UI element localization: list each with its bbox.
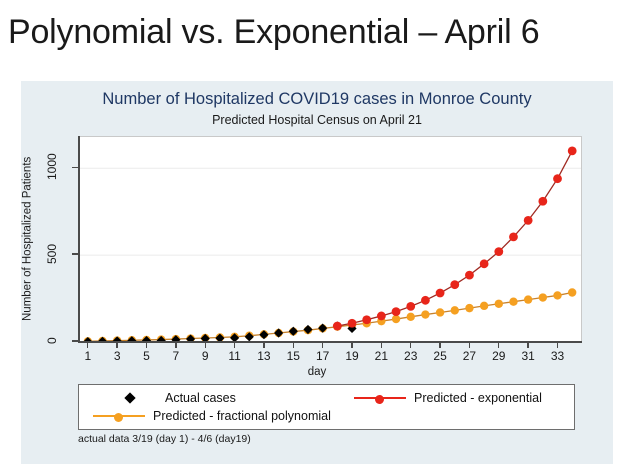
x-axis-line (78, 341, 582, 343)
chart-subtitle: Predicted Hospital Census on April 21 (21, 113, 613, 127)
x-tick-label: 27 (458, 349, 480, 363)
x-tick-label: 31 (517, 349, 539, 363)
plot-area (79, 136, 582, 342)
x-tick-label: 33 (547, 349, 569, 363)
x-tick-mark (469, 342, 470, 348)
x-tick-mark (116, 342, 117, 348)
x-tick-label: 23 (400, 349, 422, 363)
x-tick-mark (263, 342, 264, 348)
y-tick-mark (72, 340, 79, 341)
x-tick-mark (557, 342, 558, 348)
x-tick-label: 17 (312, 349, 334, 363)
x-tick-mark (351, 342, 352, 348)
x-tick-mark (293, 342, 294, 348)
legend-label-polynomial: Predicted - fractional polynomial (153, 409, 331, 423)
x-tick-mark (87, 342, 88, 348)
x-tick-label: 7 (165, 349, 187, 363)
x-tick-label: 11 (224, 349, 246, 363)
x-tick-label: 3 (106, 349, 128, 363)
chart-footnote: actual data 3/19 (day 1) - 4/6 (day19) (78, 433, 251, 445)
plot-svg (79, 137, 581, 342)
x-tick-mark (146, 342, 147, 348)
legend-item-polynomial: Predicted - fractional polynomial (93, 409, 331, 423)
x-tick-label: 29 (488, 349, 510, 363)
x-tick-label: 15 (282, 349, 304, 363)
x-tick-mark (205, 342, 206, 348)
x-axis-title: day (21, 366, 613, 378)
y-tick-mark (72, 253, 79, 254)
slide-title: Polynomial vs. Exponential – April 6 (8, 4, 626, 60)
x-tick-mark (410, 342, 411, 348)
x-tick-label: 1 (77, 349, 99, 363)
y-tick-mark (72, 167, 79, 168)
legend-key-polynomial-icon (93, 409, 145, 423)
legend-key-exponential-icon (354, 391, 406, 405)
y-axis-title: Number of Hospitalized Patients (20, 133, 35, 345)
legend-label-exponential: Predicted - exponential (414, 391, 542, 405)
x-tick-mark (175, 342, 176, 348)
x-tick-label: 25 (429, 349, 451, 363)
x-tick-label: 9 (194, 349, 216, 363)
legend-item-actual-cases: Actual cases (105, 391, 236, 405)
legend-label-actual-cases: Actual cases (165, 391, 236, 405)
legend-item-exponential: Predicted - exponential (354, 391, 542, 405)
chart-legend: Actual cases Predicted - exponential Pre… (78, 384, 575, 430)
x-tick-label: 19 (341, 349, 363, 363)
x-tick-mark (381, 342, 382, 348)
legend-key-diamond-icon (105, 391, 157, 405)
chart-title: Number of Hospitalized COVID19 cases in … (21, 90, 613, 109)
chart-panel: Number of Hospitalized COVID19 cases in … (21, 81, 613, 464)
x-tick-mark (527, 342, 528, 348)
x-tick-label: 21 (370, 349, 392, 363)
x-tick-mark (234, 342, 235, 348)
x-tick-label: 13 (253, 349, 275, 363)
x-tick-mark (322, 342, 323, 348)
y-tick-label: 0 (45, 319, 67, 363)
x-tick-label: 5 (136, 349, 158, 363)
x-tick-mark (498, 342, 499, 348)
x-tick-mark (439, 342, 440, 348)
y-tick-label: 1000 (45, 145, 67, 189)
y-tick-label: 500 (45, 232, 67, 276)
